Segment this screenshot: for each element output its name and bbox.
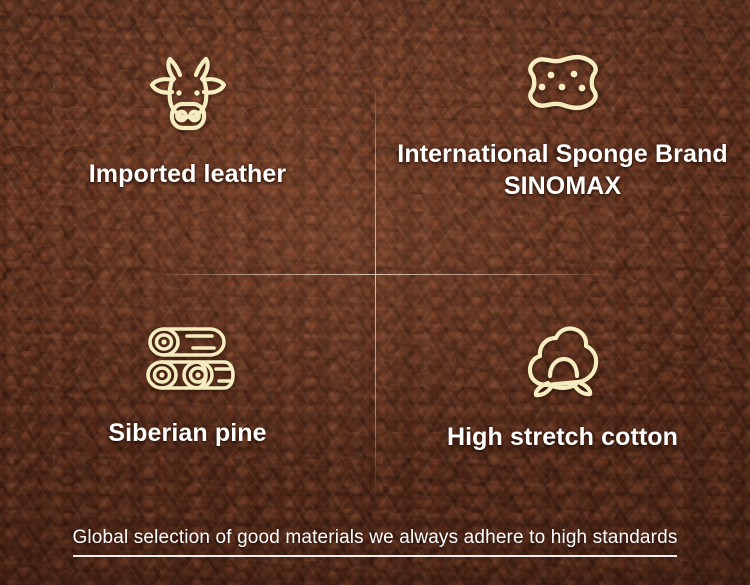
feature-grid: Imported leather International Sponge Br… <box>0 0 750 585</box>
cow-head-icon <box>145 52 231 134</box>
leather-feature-banner: Imported leather International Sponge Br… <box>0 0 750 585</box>
footer-tagline-area: Global selection of good materials we al… <box>0 527 750 557</box>
wood-logs-icon <box>140 323 236 395</box>
footer-tagline: Global selection of good materials we al… <box>73 527 678 557</box>
cotton-boll-icon <box>523 323 603 399</box>
sponge-icon <box>522 52 604 114</box>
feature-label-siberian-pine: Siberian pine <box>108 417 266 449</box>
feature-label-imported-leather: Imported leather <box>89 158 286 190</box>
feature-cell-international-sponge: International Sponge Brand SINOMAX <box>375 0 750 275</box>
feature-cell-high-stretch-cotton: High stretch cotton <box>375 275 750 510</box>
feature-label-high-stretch-cotton: High stretch cotton <box>447 421 678 453</box>
feature-label-international-sponge: International Sponge Brand SINOMAX <box>397 138 727 202</box>
feature-cell-siberian-pine: Siberian pine <box>0 275 375 510</box>
feature-cell-imported-leather: Imported leather <box>0 0 375 275</box>
